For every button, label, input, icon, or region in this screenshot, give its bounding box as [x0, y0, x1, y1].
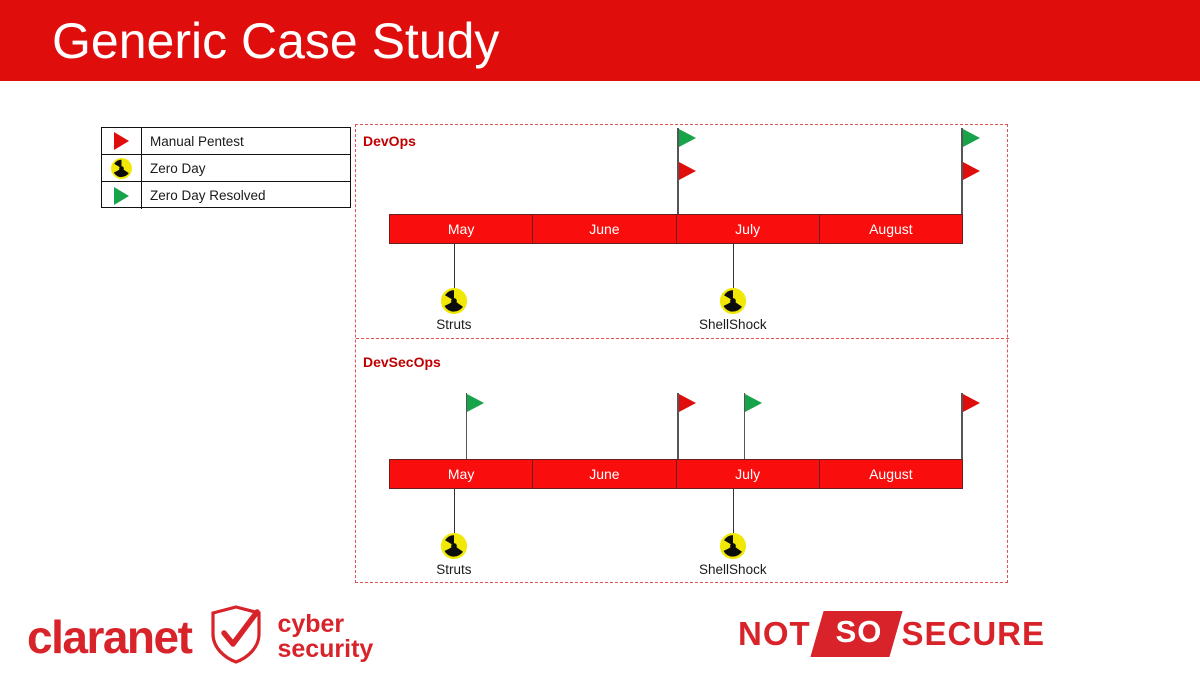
legend-box: Manual PentestZero DayZero Day Resolved	[101, 127, 351, 208]
legend-row: Zero Day	[102, 155, 350, 182]
cyber-security-wordmark: cyber security	[277, 612, 373, 661]
red-flag-icon	[102, 128, 142, 155]
secure-word: SECURE	[901, 615, 1045, 653]
zero-day-resolved-flag-icon	[745, 394, 762, 412]
month-cell-july[interactable]: July	[677, 215, 820, 243]
security-line: security	[277, 637, 373, 662]
not-word: NOT	[738, 615, 811, 653]
month-cell-may[interactable]: May	[390, 460, 533, 488]
zero-day-resolved-flag-icon	[679, 129, 696, 147]
footer-logos: claranet cyber security NOT SO SECURE se…	[0, 595, 1200, 674]
timeline-bar: MayJuneJulyAugust	[389, 214, 963, 244]
shield-check-icon	[205, 603, 267, 670]
zero-day-resolved-flag-icon	[467, 394, 484, 412]
zero-day-resolved-flag-icon	[963, 129, 980, 147]
zero-day-stem	[733, 489, 734, 533]
month-cell-august[interactable]: August	[820, 460, 962, 488]
manual-pentest-flag-icon	[963, 162, 980, 180]
claranet-logo: claranet cyber security	[27, 603, 373, 670]
zero-day-label: ShellShock	[663, 562, 803, 577]
month-cell-july[interactable]: July	[677, 460, 820, 488]
claranet-wordmark: claranet	[27, 610, 191, 664]
manual-pentest-flag-icon	[963, 394, 980, 412]
zero-day-stem	[454, 489, 455, 533]
legend-item-label: Zero Day Resolved	[142, 188, 266, 203]
timeline-bar: MayJuneJulyAugust	[389, 459, 963, 489]
manual-pentest-flag-icon	[679, 162, 696, 180]
month-cell-may[interactable]: May	[390, 215, 533, 243]
month-cell-june[interactable]: June	[533, 460, 676, 488]
zero-day-stem	[733, 244, 734, 288]
page-title: Generic Case Study	[52, 8, 499, 74]
radiation-icon	[102, 155, 142, 182]
notsosecure-logo: NOT SO SECURE	[738, 611, 1045, 657]
red-triangle-glyph	[114, 132, 129, 150]
section-label: DevSecOps	[363, 354, 441, 370]
legend-item-label: Zero Day	[142, 161, 206, 176]
green-triangle-glyph	[114, 187, 129, 205]
zero-day-label: Struts	[384, 562, 524, 577]
legend-row: Manual Pentest	[102, 128, 350, 155]
legend-item-label: Manual Pentest	[142, 134, 244, 149]
cyber-line: cyber	[277, 612, 373, 637]
section-label: DevOps	[363, 133, 416, 149]
slide-root: Generic Case Study Manual PentestZero Da…	[0, 0, 1200, 674]
so-badge: SO	[810, 611, 902, 657]
so-word: SO	[835, 614, 882, 650]
month-cell-august[interactable]: August	[820, 215, 962, 243]
radiation-icon	[441, 288, 467, 314]
zero-day-label: ShellShock	[663, 317, 803, 332]
zero-day-stem	[454, 244, 455, 288]
section-divider	[356, 338, 1009, 339]
radiation-icon	[720, 288, 746, 314]
radiation-icon	[720, 533, 746, 559]
month-cell-june[interactable]: June	[533, 215, 676, 243]
radiation-icon	[441, 533, 467, 559]
title-banner: Generic Case Study	[0, 0, 1200, 81]
legend-row: Zero Day Resolved	[102, 182, 350, 209]
green-flag-icon	[102, 182, 142, 209]
manual-pentest-flag-icon	[679, 394, 696, 412]
timeline-frame: DevOpsMayJuneJulyAugustStrutsShellShockD…	[355, 124, 1008, 583]
zero-day-label: Struts	[384, 317, 524, 332]
